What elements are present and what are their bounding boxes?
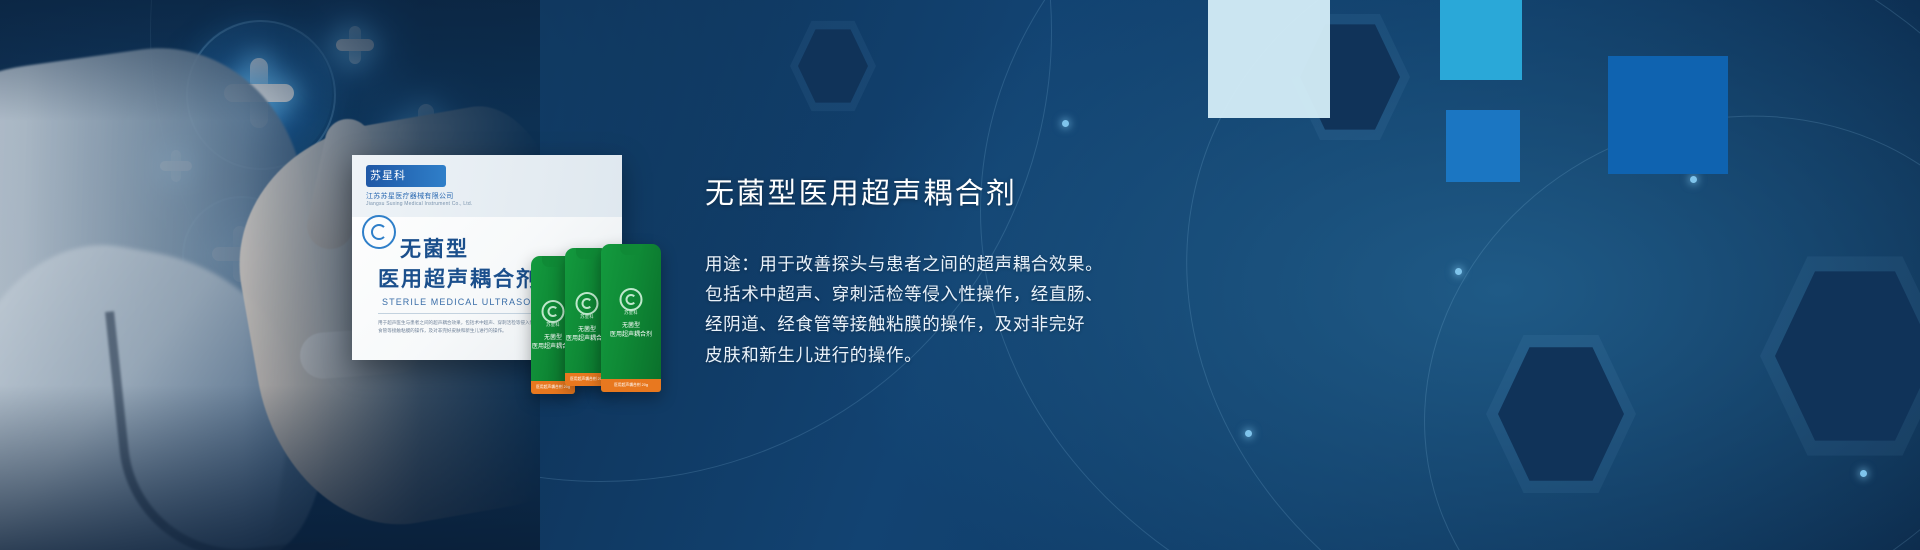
sachet-brand: 苏星科 — [601, 310, 661, 316]
product-title-line1: 无菌型 — [400, 233, 469, 263]
network-node-icon — [1690, 176, 1697, 183]
product-sachet: 苏星科 无菌型医用超声耦合剂 医用超声耦合剂 20g — [601, 244, 661, 392]
network-node-icon — [1455, 268, 1462, 275]
hero-banner: 苏星科 江苏苏星医疗器械有限公司 Jiangsu Suxing Medical … — [0, 0, 1920, 550]
company-name-cn: 江苏苏星医疗器械有限公司 — [366, 191, 454, 201]
sachet-label: 无菌型医用超声耦合剂 — [601, 322, 661, 339]
description-line: 皮肤和新生儿进行的操作。 — [705, 340, 1265, 370]
page-title: 无菌型医用超声耦合剂 — [705, 176, 1265, 212]
company-name-en: Jiangsu Suxing Medical Instrument Co., L… — [366, 201, 472, 207]
cross-icon — [1446, 110, 1520, 182]
cross-icon — [1440, 0, 1522, 80]
network-node-icon — [1062, 120, 1069, 127]
sachet-footer-text: 医用超声耦合剂 20g — [601, 379, 661, 392]
product-title-line2: 医用超声耦合剂 — [378, 263, 539, 293]
description-block: 用途：用于改善探头与患者之间的超声耦合效果。 包括术中超声、穿刺活检等侵入性操作… — [705, 249, 1265, 369]
cross-icon — [1608, 56, 1728, 174]
description-line: 用途：用于改善探头与患者之间的超声耦合效果。 — [705, 249, 1265, 279]
sachet-footer: 医用超声耦合剂 20g — [601, 379, 661, 392]
network-node-icon — [1860, 470, 1867, 477]
sachet-neck — [542, 256, 564, 267]
sachet-neck — [620, 244, 642, 255]
description-line: 经阴道、经食管等接触粘膜的操作，及对非完好 — [705, 309, 1265, 339]
swirl-logo-icon — [576, 292, 599, 315]
swirl-logo-icon — [620, 288, 643, 311]
description-line: 包括术中超声、穿刺活检等侵入性操作，经直肠、 — [705, 279, 1265, 309]
brand-logo-text: 苏星科 — [370, 167, 406, 183]
sachet-neck — [576, 248, 598, 259]
swirl-logo-icon — [362, 215, 396, 249]
cross-icon — [1208, 0, 1330, 118]
network-node-icon — [1245, 430, 1252, 437]
banner-copy: 无菌型医用超声耦合剂 用途：用于改善探头与患者之间的超声耦合效果。 包括术中超声… — [705, 176, 1265, 370]
swirl-logo-icon — [542, 300, 565, 323]
